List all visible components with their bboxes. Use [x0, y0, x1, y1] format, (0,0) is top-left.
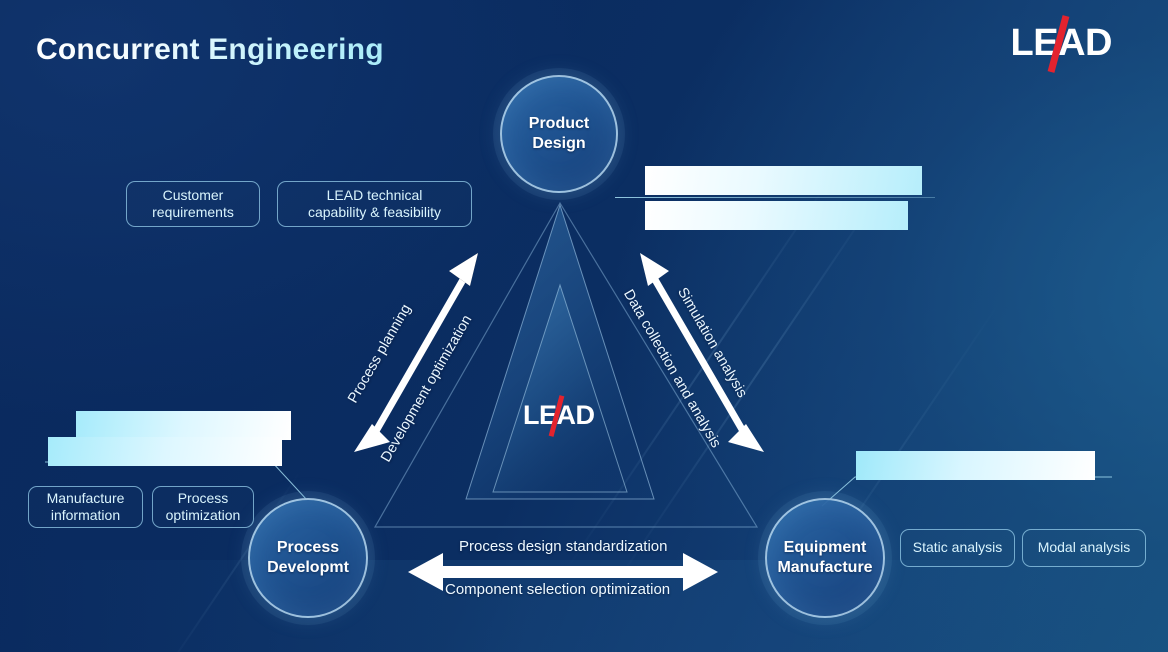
tag-modal-analysis-label: Modal analysis: [1038, 539, 1131, 556]
headline-manufacture-process-line2: analysis & optimization: [48, 437, 282, 466]
tag-process-optimization[interactable]: Process optimization: [152, 486, 254, 528]
tag-lead-technical-line1: LEAD technical: [327, 187, 423, 203]
tag-customer-requirements-line1: Customer: [163, 187, 224, 203]
tag-lead-technical-capability[interactable]: LEAD technical capability & feasibility: [277, 181, 472, 227]
tag-modal-analysis[interactable]: Modal analysis: [1022, 529, 1146, 567]
rule-product-design: [615, 197, 935, 198]
tag-process-optimization-line1: Process: [178, 490, 229, 506]
middle-triangle: [466, 205, 654, 499]
tag-process-optimization-line2: optimization: [166, 507, 241, 523]
arrow-label-process-planning: Process planning: [345, 302, 414, 406]
tag-manufacture-information[interactable]: Manufacture information: [28, 486, 143, 528]
tag-static-analysis-label: Static analysis: [913, 539, 1002, 556]
tag-static-analysis[interactable]: Static analysis: [900, 529, 1015, 567]
background-glow: [0, 560, 1168, 652]
tag-customer-requirements[interactable]: Customer requirements: [126, 181, 260, 227]
slide-canvas: Concurrent Engineering LEAD: [0, 0, 1168, 652]
tag-manufacture-information-line2: information: [51, 507, 120, 523]
node-process-development[interactable]: Process Developmt: [248, 498, 368, 618]
tag-customer-requirements-line2: requirements: [152, 204, 234, 220]
node-process-development-line2: Developmt: [267, 559, 349, 576]
node-product-design[interactable]: Product Design: [500, 75, 618, 193]
arrow-label-component-selection-optimization: Component selection optimization: [445, 581, 670, 598]
headline-manufacturability-analysis: Manufacturability analysis: [645, 201, 908, 230]
inner-triangle: [493, 285, 627, 492]
headline-manufacturing-planning: Manufacturing planning: [856, 451, 1095, 480]
node-process-development-line1: Process: [277, 539, 339, 556]
node-equipment-manufacture-line1: Equipment: [784, 539, 867, 556]
lead-logo: LEAD: [1011, 24, 1112, 62]
headline-dimensional-chain-analysis: Dimensional chain analysis: [645, 166, 922, 195]
tag-lead-technical-line2: capability & feasibility: [308, 204, 441, 220]
tag-manufacture-information-line1: Manufacture: [47, 490, 125, 506]
arrow-label-process-design-standardization: Process design standardization: [459, 538, 667, 555]
node-product-design-line1: Product: [529, 115, 589, 132]
node-equipment-manufacture-line2: Manufacture: [777, 559, 872, 576]
page-title: Concurrent Engineering: [36, 33, 384, 67]
arrow-label-data-collection-and-analysis: Data collection and analysis: [620, 287, 724, 451]
node-product-design-line2: Design: [532, 135, 585, 152]
node-equipment-manufacture[interactable]: Equipment Manufacture: [765, 498, 885, 618]
connector-equipment-manufacture: [822, 477, 1112, 506]
lead-logo-center: LEAD: [523, 402, 595, 429]
